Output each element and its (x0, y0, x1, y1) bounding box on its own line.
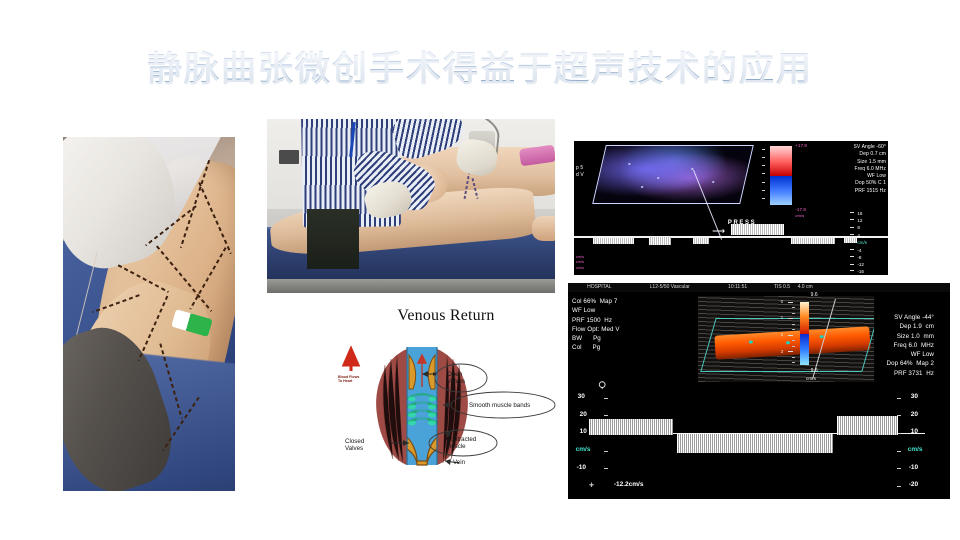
axis-label: 20 (580, 411, 587, 418)
venous-return-illustration (333, 303, 559, 499)
color-bar-positive (800, 302, 808, 333)
color-velocity-bar (800, 302, 808, 365)
velocity-scale-right: 16 12 8 4 cm/s -4 -8 -12 -16 (850, 211, 881, 273)
header-time: 10:11:51 (728, 283, 747, 292)
caliper-icon: ✚ (589, 482, 594, 489)
axis-label: 10 (911, 428, 918, 435)
axis-label: -10 (909, 464, 918, 471)
clinician-trousers (307, 209, 359, 268)
us-bottom-params-left: Col 66% Map 7 WF Low PRF 1500 Hz Flow Op… (572, 297, 620, 353)
axis-unit-label: cm/s (576, 446, 591, 453)
smooth-muscle-bands-label: Smooth muscle bands (469, 402, 530, 409)
patient-foot (532, 216, 555, 240)
duplex-ultrasound-examination-photo (267, 119, 555, 293)
vein-label: Vein (453, 459, 465, 466)
header-probe: L12-5/50 Vascular (650, 283, 690, 292)
color-bar-negative (800, 334, 808, 365)
velocity-axis-right: 30 20 10 cm/s -10 -20 (893, 389, 946, 499)
spectral-waveform-segment (649, 237, 671, 245)
us-top-params-left: p 5 d V (576, 165, 584, 180)
color-velocity-bar (770, 146, 792, 205)
contracted-muscle-label: Contracted muscle (446, 436, 476, 450)
examination-table-base (267, 279, 555, 293)
spectral-waveform-antegrade-2 (837, 416, 898, 435)
color-bar-min-label: 9.6 (811, 368, 818, 375)
axis-label: 30 (911, 393, 918, 400)
spectral-waveform-segment (693, 238, 709, 244)
spectral-waveform-segment (791, 238, 835, 244)
spectral-waveform-segment (731, 224, 784, 235)
color-bar-negative (770, 176, 792, 205)
spectral-waveform-reflux (677, 434, 834, 453)
color-bar-unit-label: cm/s (806, 376, 816, 383)
header-hospital: HOSPITAL (587, 283, 611, 292)
axis-label: -10 (577, 464, 586, 471)
us-top-bottom-left-text: cm/s cm/s cm/s (576, 255, 584, 271)
spectral-doppler-display: 30 20 10 cm/s -10 30 20 10 cm/s (568, 389, 950, 499)
depth-tick-column (759, 146, 765, 205)
color-bar-max-label: +17.8 (795, 143, 807, 149)
axis-label: 20 (911, 411, 918, 418)
color-doppler-spectral-top: SV Angle -60° Dep 0.7 cm Size 1.5 mm Fre… (574, 141, 888, 275)
wall-outlet (279, 150, 299, 164)
axis-label: -20 (909, 481, 918, 488)
color-doppler-spectral-bottom: HOSPITAL L12-5/50 Vascular 10:11:51 TIS … (568, 283, 950, 499)
depth-ruler: 0 1 2 3 (788, 300, 798, 369)
header-tis: TIS 0.5 (774, 283, 790, 292)
color-bar-positive (770, 146, 792, 175)
velocity-measurement-label: -12.2cm/s (614, 481, 644, 488)
spectral-waveform-antegrade-1 (589, 419, 673, 436)
open-valves-label: Open Valves (447, 371, 465, 385)
color-bar-unit-label: cm/s (795, 213, 804, 219)
reflux-arrow-icon: ⟶ (712, 227, 725, 236)
scanner-header-bar: HOSPITAL L12-5/50 Vascular 10:11:51 TIS … (568, 283, 950, 292)
blood-flow-label: Blood Flows To Heart (338, 375, 359, 383)
us-top-params-right: SV Angle -60° Dep 0.7 cm Size 1.5 mm Fre… (854, 144, 887, 195)
b-mode-image (698, 296, 874, 382)
axis-label: 30 (578, 393, 585, 400)
closed-valves-label: Closed Valves (345, 438, 364, 452)
presentation-slide: 静脉曲张微创手术得益于超声技术的应用 (0, 0, 960, 540)
color-flow-box (592, 145, 753, 204)
header-depth: 4.0 cm (798, 283, 813, 292)
axis-unit-label: cm/s (908, 446, 923, 453)
surgical-vein-marking-photo (63, 137, 235, 491)
axis-label: 10 (580, 428, 587, 435)
color-bar-max-label: 9.6 (811, 292, 818, 299)
venous-return-diagram: Venous Return (333, 303, 559, 499)
us-bottom-params-right: SV Angle -44° Dep 1.9 cm Size 1.0 mm Fre… (887, 313, 935, 378)
spectral-waveform-segment (593, 238, 634, 244)
page-title: 静脉曲张微创手术得益于超声技术的应用 (0, 50, 960, 91)
